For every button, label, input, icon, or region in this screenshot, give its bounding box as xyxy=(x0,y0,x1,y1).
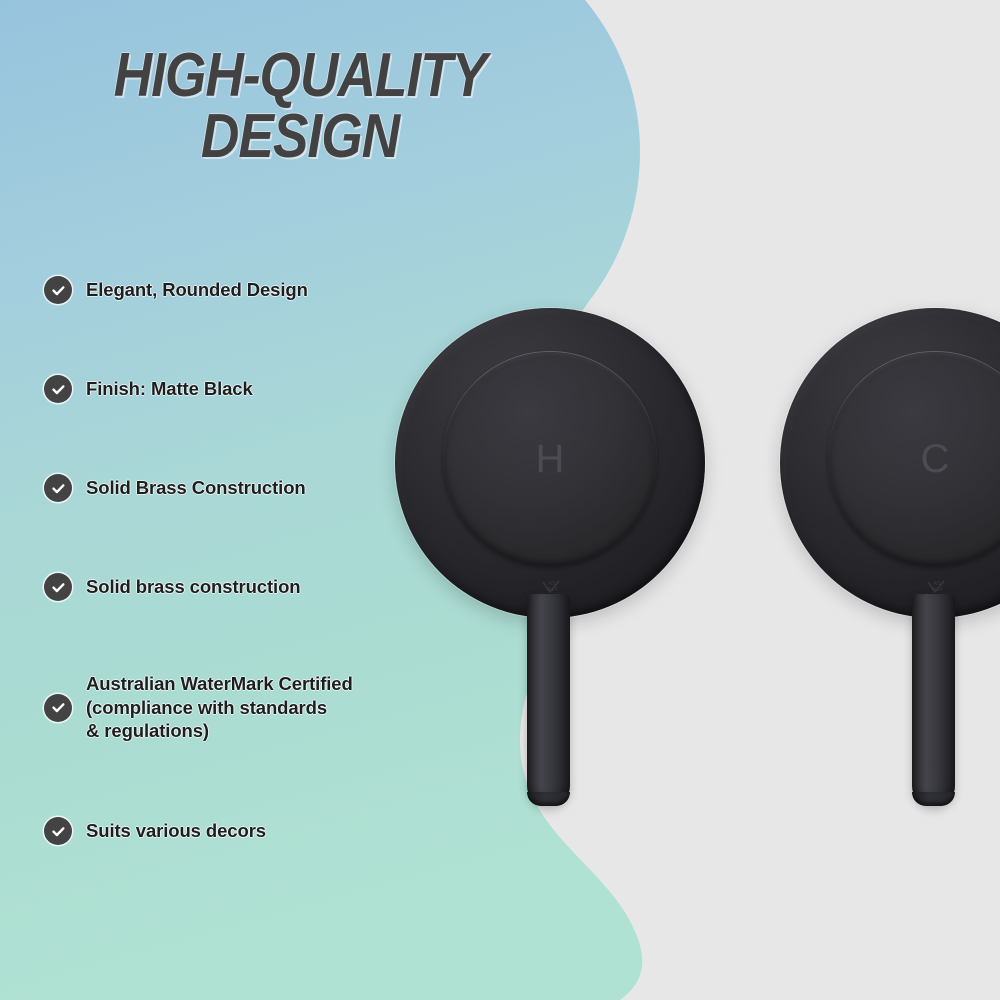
mixer-inner-disc: C xyxy=(828,352,1000,566)
hot-letter-label: H xyxy=(443,352,657,566)
check-circle-icon xyxy=(44,276,72,304)
list-item-label: Suits various decors xyxy=(86,819,266,843)
list-item: Solid Brass Construction xyxy=(44,474,306,502)
cold-water-mixer: C AS W14 Approved xyxy=(780,308,1000,808)
mixer-lever-handle[interactable] xyxy=(527,594,570,806)
mixer-inner-disc: H xyxy=(443,352,657,566)
list-item-label: Finish: Matte Black xyxy=(86,377,253,401)
check-circle-icon xyxy=(44,694,72,722)
check-circle-icon xyxy=(44,573,72,601)
mixer-lever-handle[interactable] xyxy=(912,594,955,806)
lever-end-cap xyxy=(912,792,955,806)
list-item-label: Elegant, Rounded Design xyxy=(86,278,308,302)
list-item-label: Australian WaterMark Certified (complian… xyxy=(86,672,353,743)
list-item: Australian WaterMark Certified (complian… xyxy=(44,672,353,743)
list-item-label: Solid Brass Construction xyxy=(86,476,306,500)
page-title: HIGH-QUALITY DESIGN xyxy=(94,46,507,168)
hot-water-mixer: H AS W14 Approved xyxy=(395,308,705,808)
list-item-label: Solid brass construction xyxy=(86,575,301,599)
lever-end-cap xyxy=(527,792,570,806)
check-circle-icon xyxy=(44,375,72,403)
list-item: Suits various decors xyxy=(44,817,266,845)
list-item: Elegant, Rounded Design xyxy=(44,276,308,304)
list-item: Finish: Matte Black xyxy=(44,375,253,403)
check-circle-icon xyxy=(44,474,72,502)
cold-letter-label: C xyxy=(828,352,1000,566)
check-circle-icon xyxy=(44,817,72,845)
product-feature-image: HIGH-QUALITY DESIGN Elegant, Rounded Des… xyxy=(0,0,1000,1000)
list-item: Solid brass construction xyxy=(44,573,301,601)
